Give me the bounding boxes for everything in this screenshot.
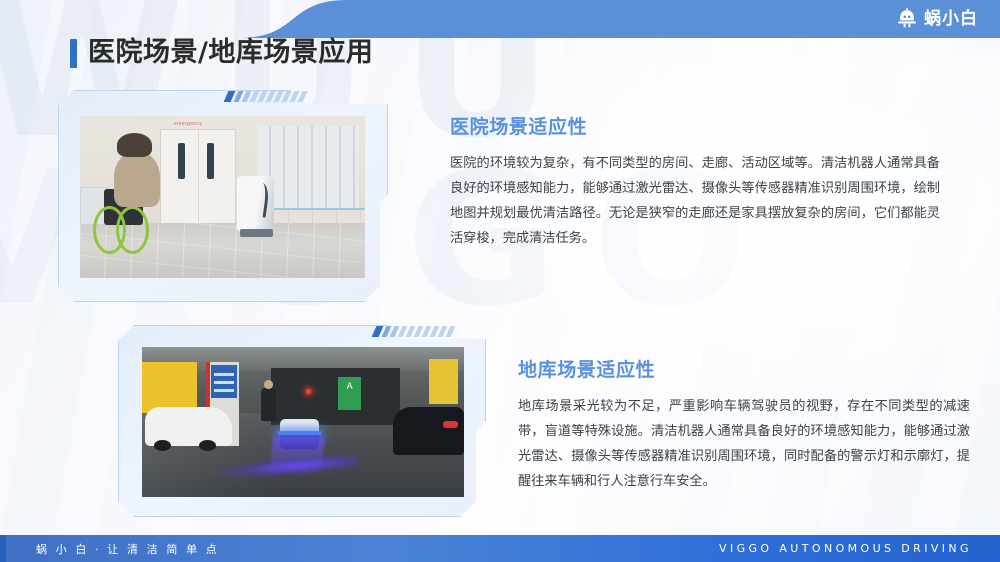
hospital-section-heading: 医院场景适应性 [450,112,940,139]
garage-image-frame: A [118,325,486,517]
garage-dark-car [393,407,464,455]
garage-zone-sign: A [338,377,361,410]
header-band [0,0,1000,38]
footer-slogan: 蜗 小 白 · 让 清 洁 简 单 点 [36,541,219,557]
hospital-person [114,152,160,207]
footer-left-cap [0,535,6,562]
hospital-image-frame: emergency [58,90,388,302]
slide-root: WUU VIGGO 蜗小白 医院场景/地库场景应用 [0,0,1000,562]
garage-yellow-wall-right [429,359,458,404]
garage-info-sign [211,365,237,398]
footer: 蜗 小 白 · 让 清 洁 简 单 点 VIGGO AUTONOMOUS DRI… [0,535,1000,562]
hospital-frame-stripes [226,91,305,102]
garage-pedestrian [261,388,275,421]
footer-brand-en: VIGGO AUTONOMOUS DRIVING [719,542,972,555]
garage-frame-stripes [374,326,453,337]
hospital-double-door [160,129,236,225]
hospital-cleaning-robot [237,176,274,231]
garage-section-heading: 地库场景适应性 [518,355,970,382]
garage-section-body: 地库场景采光较为不足，严重影响车辆驾驶员的视野，存在不同类型的减速带，盲道等特殊… [518,394,970,494]
hospital-scene: emergency [80,116,365,278]
garage-far-opening [271,368,400,425]
page-title-text: 医院场景/地库场景应用 [88,38,373,68]
title-accent-bar [70,39,77,68]
garage-text-block: 地库场景适应性 地库场景采光较为不足，严重影响车辆驾驶员的视野，存在不同类型的减… [518,355,970,494]
hospital-photo: emergency [80,116,365,278]
hospital-section-body: 医院的环境较为复杂，有不同类型的房间、走廊、活动区域等。清洁机器人通常具备良好的… [450,151,940,251]
hospital-text-block: 医院场景适应性 医院的环境较为复杂，有不同类型的房间、走廊、活动区域等。清洁机器… [450,112,940,251]
garage-photo: A [142,347,464,497]
robot-head-icon [896,8,918,30]
header: 蜗小白 [0,0,1000,38]
brand-logo-text: 蜗小白 [924,8,978,30]
garage-scene: A [142,347,464,497]
page-title: 医院场景/地库场景应用 [70,38,373,68]
garage-yellow-wall-left [142,362,197,413]
hospital-emergency-sign: emergency [174,121,202,127]
brand-logo: 蜗小白 [896,6,978,32]
garage-white-car [145,407,232,446]
